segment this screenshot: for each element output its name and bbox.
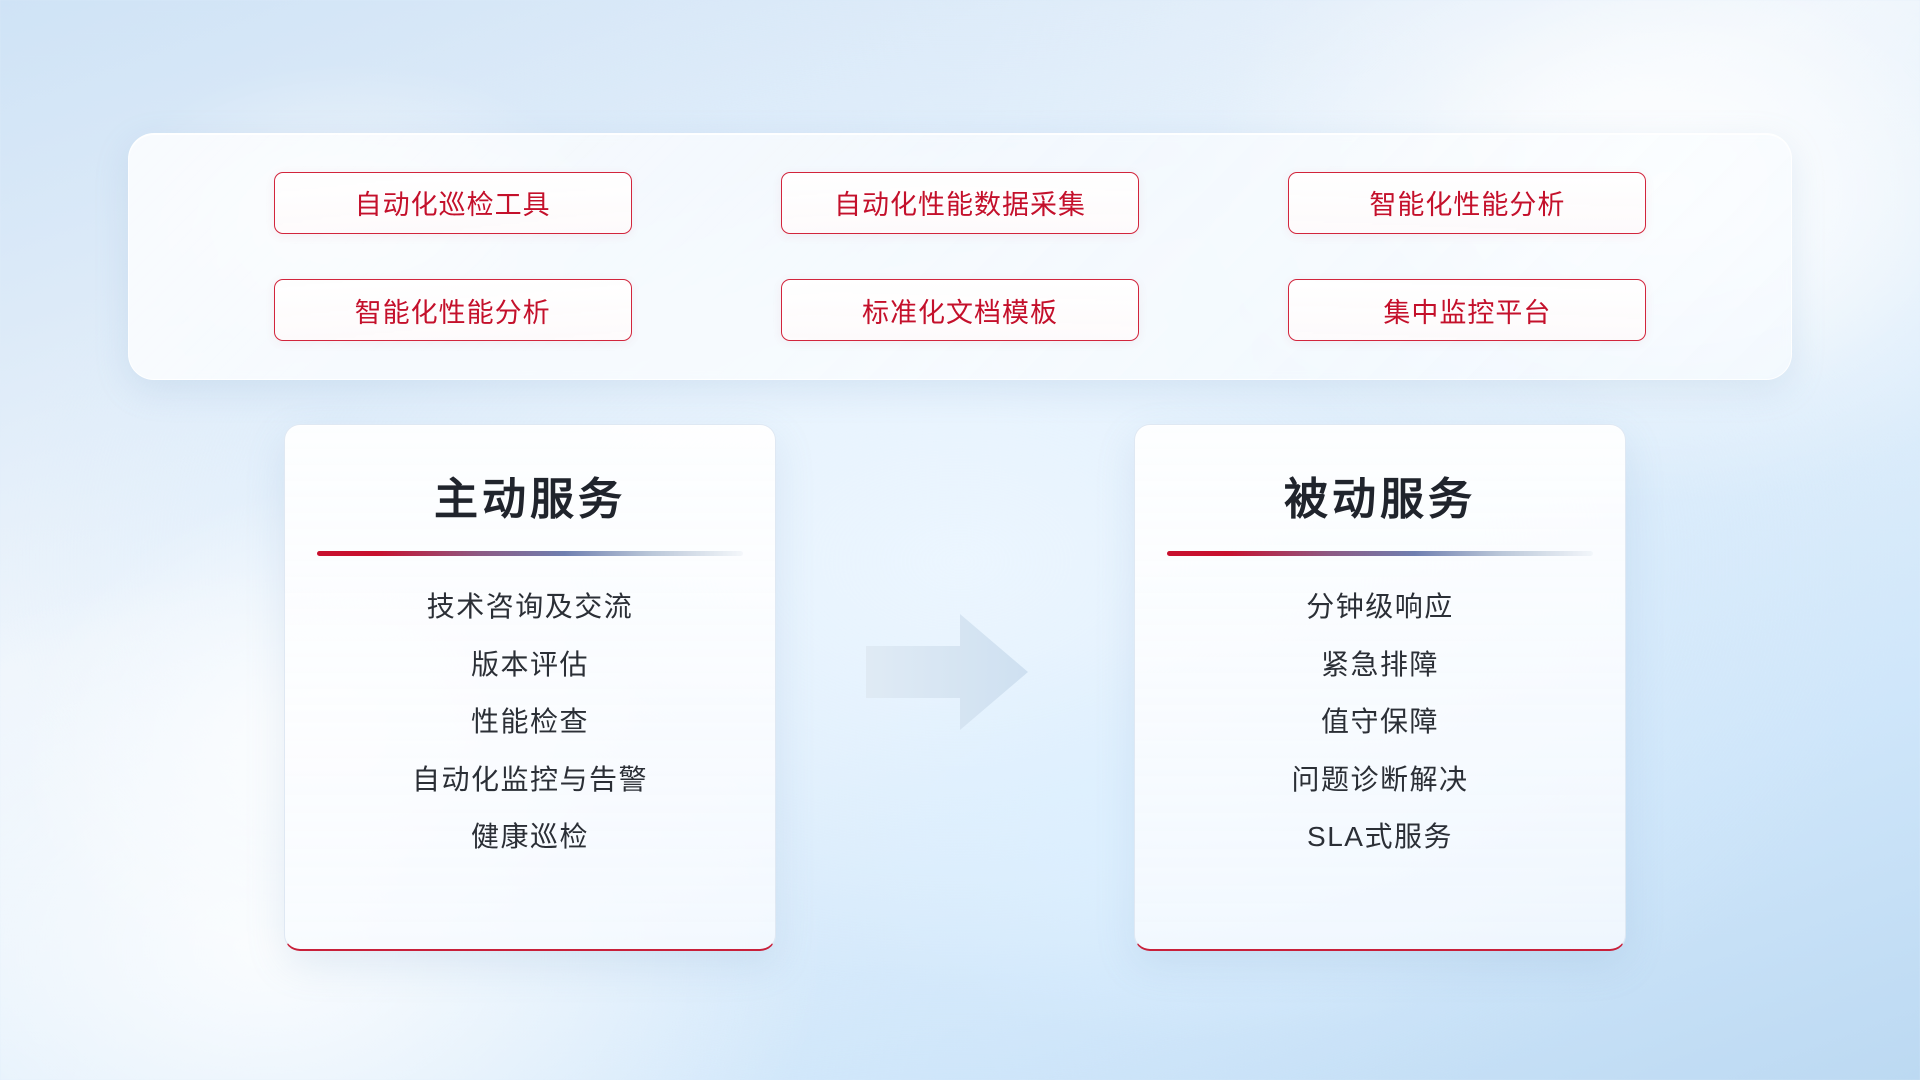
card-list-item: 版本评估 [471,648,589,682]
title-divider [317,551,743,556]
card-list-item: 性能检查 [471,705,589,739]
capability-tag[interactable]: 自动化巡检工具 [274,172,632,234]
capability-tag[interactable]: 智能化性能分析 [274,279,632,341]
card-list-item: SLA式服务 [1307,820,1453,854]
card-title: 主动服务 [434,463,626,527]
card-item-list: 分钟级响应 紧急排障 值守保障 问题诊断解决 SLA式服务 [1135,590,1625,854]
card-list-item: 自动化监控与告警 [412,763,648,797]
right-arrow-icon [864,612,1030,732]
capability-tags-panel: 自动化巡检工具 自动化性能数据采集 智能化性能分析 智能化性能分析 标准化文档模… [128,133,1792,380]
capability-tag[interactable]: 集中监控平台 [1288,279,1646,341]
card-list-item: 健康巡检 [471,820,589,854]
card-list-item: 分钟级响应 [1306,590,1454,624]
service-card-reactive: 被动服务 分钟级响应 紧急排障 值守保障 问题诊断解决 SLA式服务 [1134,424,1626,951]
capability-tag[interactable]: 智能化性能分析 [1288,172,1646,234]
title-divider [1167,551,1593,556]
capability-tag[interactable]: 自动化性能数据采集 [781,172,1139,234]
capability-tag[interactable]: 标准化文档模板 [781,279,1139,341]
card-list-item: 值守保障 [1321,705,1439,739]
card-title: 被动服务 [1284,463,1476,527]
card-list-item: 问题诊断解决 [1291,763,1468,797]
card-list-item: 技术咨询及交流 [427,590,634,624]
service-card-proactive: 主动服务 技术咨询及交流 版本评估 性能检查 自动化监控与告警 健康巡检 [284,424,776,951]
card-item-list: 技术咨询及交流 版本评估 性能检查 自动化监控与告警 健康巡检 [285,590,775,854]
card-list-item: 紧急排障 [1321,648,1439,682]
